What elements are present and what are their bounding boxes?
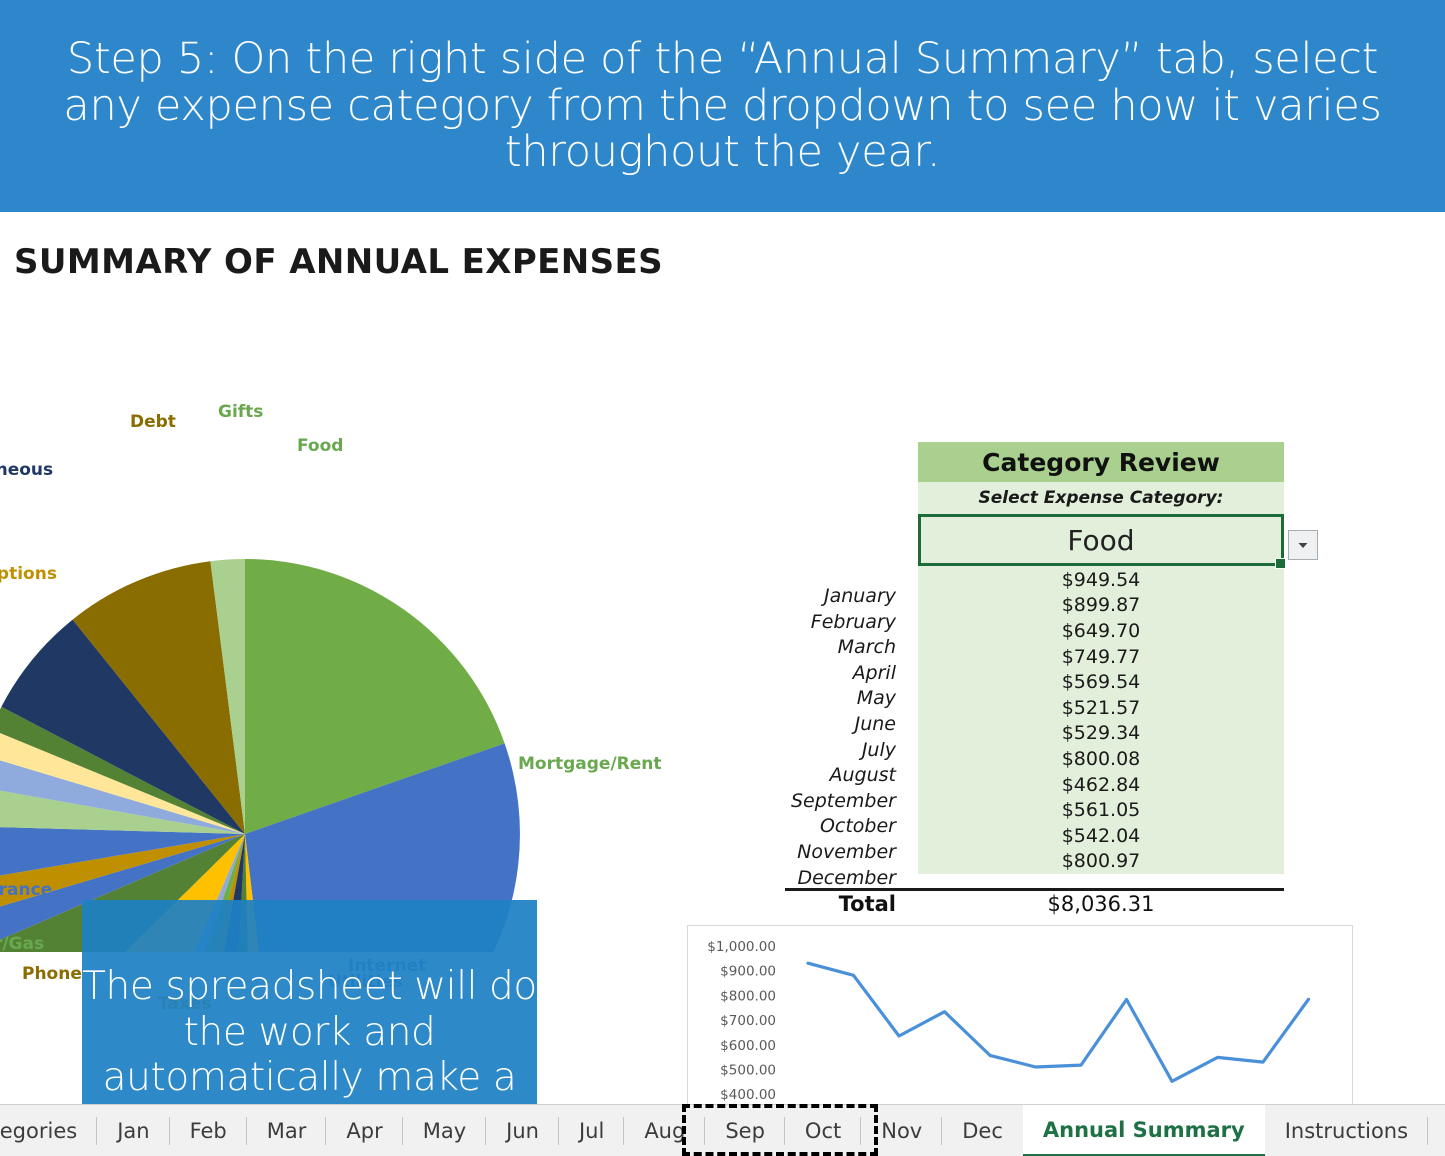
sheet-tab-list: Categories Jan Feb Mar Apr May Jun Jul A… <box>0 1105 1428 1156</box>
table-cell-value: $561.05 <box>918 797 1284 823</box>
table-cell-value: $949.54 <box>918 567 1284 593</box>
total-value: $8,036.31 <box>918 892 1284 916</box>
category-review-panel: Category Review Select Expense Category:… <box>918 442 1284 874</box>
table-cell-value: $529.34 <box>918 721 1284 747</box>
category-review-header: Category Review <box>918 442 1284 482</box>
month-label: May <box>760 686 896 712</box>
sheet-tab-label: Oct <box>805 1119 841 1143</box>
month-label: July <box>760 738 896 764</box>
month-label: September <box>760 789 896 815</box>
month-label: June <box>760 712 896 738</box>
month-label: February <box>760 610 896 636</box>
sheet-tab-may[interactable]: May <box>403 1105 486 1156</box>
sheet-tab-label: Nov <box>881 1119 922 1143</box>
month-label: March <box>760 635 896 661</box>
y-axis-tick: $400.00 <box>720 1087 776 1103</box>
sheet-tab-label: Jun <box>506 1119 539 1143</box>
month-label: October <box>760 814 896 840</box>
total-label: Total <box>760 892 896 916</box>
pie-label-food: Food <box>297 436 343 456</box>
summary-title: SUMMARY OF ANNUAL EXPENSES <box>14 242 663 282</box>
table-cell-value: $800.08 <box>918 746 1284 772</box>
sheet-tab-annual-summary[interactable]: Annual Summary <box>1023 1105 1265 1156</box>
sheet-tab-feb[interactable]: Feb <box>170 1105 247 1156</box>
month-label: August <box>760 763 896 789</box>
sheet-tab-label: Feb <box>190 1119 227 1143</box>
table-cell-value: $899.87 <box>918 593 1284 619</box>
sheet-tab-sep[interactable]: Sep <box>705 1105 785 1156</box>
table-cell-value: $800.97 <box>918 849 1284 875</box>
sheet-tab-bar: Categories Jan Feb Mar Apr May Jun Jul A… <box>0 1104 1445 1156</box>
pie-label-car-gas: Car/Gas <box>0 934 44 954</box>
sheet-tab-instructions[interactable]: Instructions <box>1265 1105 1428 1156</box>
sheet-tab-nov[interactable]: Nov <box>861 1105 942 1156</box>
sheet-tab-label: Mar <box>267 1119 307 1143</box>
table-cell-value: $569.54 <box>918 669 1284 695</box>
total-divider <box>785 888 1284 891</box>
category-values-column: $949.54 $899.87 $649.70 $749.77 $569.54 … <box>918 566 1284 874</box>
sheet-tab-oct[interactable]: Oct <box>785 1105 861 1156</box>
y-axis-tick: $600.00 <box>720 1038 776 1054</box>
month-labels-column: January February March April May June Ju… <box>760 584 896 891</box>
table-cell-value: $649.70 <box>918 618 1284 644</box>
category-dropdown-button[interactable] <box>1288 530 1318 560</box>
sheet-tab-jun[interactable]: Jun <box>486 1105 559 1156</box>
sheet-tab-label: Instructions <box>1285 1119 1408 1143</box>
sheet-tab-label: Aug <box>644 1119 685 1143</box>
pie-label-miscellaneous-services: Miscellaneous Services <box>0 460 38 503</box>
month-label: January <box>760 584 896 610</box>
slide-canvas: Step 5: On the right side of the “Annual… <box>0 0 1445 1156</box>
pie-label-gifts: Gifts <box>218 402 263 422</box>
sheet-tab-jul[interactable]: Jul <box>559 1105 624 1156</box>
y-axis-tick: $700.00 <box>720 1013 776 1029</box>
selected-category-value: Food <box>1067 524 1134 557</box>
pie-label-debt: Debt <box>130 412 176 432</box>
sheet-tab-label: Sep <box>725 1119 765 1143</box>
chevron-down-icon <box>1295 537 1311 553</box>
sheet-tab-aug[interactable]: Aug <box>624 1105 705 1156</box>
instruction-banner: Step 5: On the right side of the “Annual… <box>0 0 1445 212</box>
cell-fill-handle[interactable] <box>1275 558 1286 569</box>
table-cell-value: $521.57 <box>918 695 1284 721</box>
sheet-tab-label: Dec <box>962 1119 1003 1143</box>
y-axis-tick: $500.00 <box>720 1063 776 1079</box>
y-axis-tick: $900.00 <box>720 964 776 980</box>
expense-category-dropdown-cell[interactable]: Food <box>918 514 1284 566</box>
sheet-tab-categories[interactable]: Categories <box>0 1105 97 1156</box>
sheet-tab-dec[interactable]: Dec <box>942 1105 1023 1156</box>
sheet-tab-label: Categories <box>0 1119 77 1143</box>
select-expense-category-label: Select Expense Category: <box>918 482 1284 514</box>
pie-chart-svg <box>0 312 570 952</box>
month-label: November <box>760 840 896 866</box>
sheet-tab-jan[interactable]: Jan <box>97 1105 169 1156</box>
sheet-tab-label: Apr <box>346 1119 382 1143</box>
sheet-tab-label: May <box>423 1119 466 1143</box>
pie-label-subscriptions: Subscriptions <box>0 564 57 584</box>
sheet-tab-label: Jan <box>117 1119 149 1143</box>
sheet-tab-mar[interactable]: Mar <box>247 1105 327 1156</box>
worksheet-area: SUMMARY OF ANNUAL EXPENSES <box>0 212 1445 1104</box>
annual-expenses-pie-chart: Food Mortgage/Rent Debt Gifts Car/Gas Ph… <box>0 312 570 952</box>
month-label: April <box>760 661 896 687</box>
table-cell-value: $462.84 <box>918 772 1284 798</box>
pie-label-phone: Phone <box>22 964 82 984</box>
sheet-tab-label: Annual Summary <box>1043 1118 1245 1142</box>
pie-label-mortgage-rent: Mortgage/Rent <box>518 754 662 774</box>
tab-separator <box>1427 1117 1428 1145</box>
instruction-banner-text: Step 5: On the right side of the “Annual… <box>0 36 1445 175</box>
pie-label-insurance: Insurance <box>0 880 52 900</box>
y-axis-tick: $1,000.00 <box>707 939 776 955</box>
y-axis-tick: $800.00 <box>720 988 776 1004</box>
table-cell-value: $749.77 <box>918 644 1284 670</box>
line-series-food <box>808 963 1309 1081</box>
sheet-tab-label: Jul <box>579 1119 604 1143</box>
table-cell-value: $542.04 <box>918 823 1284 849</box>
sheet-tab-apr[interactable]: Apr <box>326 1105 402 1156</box>
